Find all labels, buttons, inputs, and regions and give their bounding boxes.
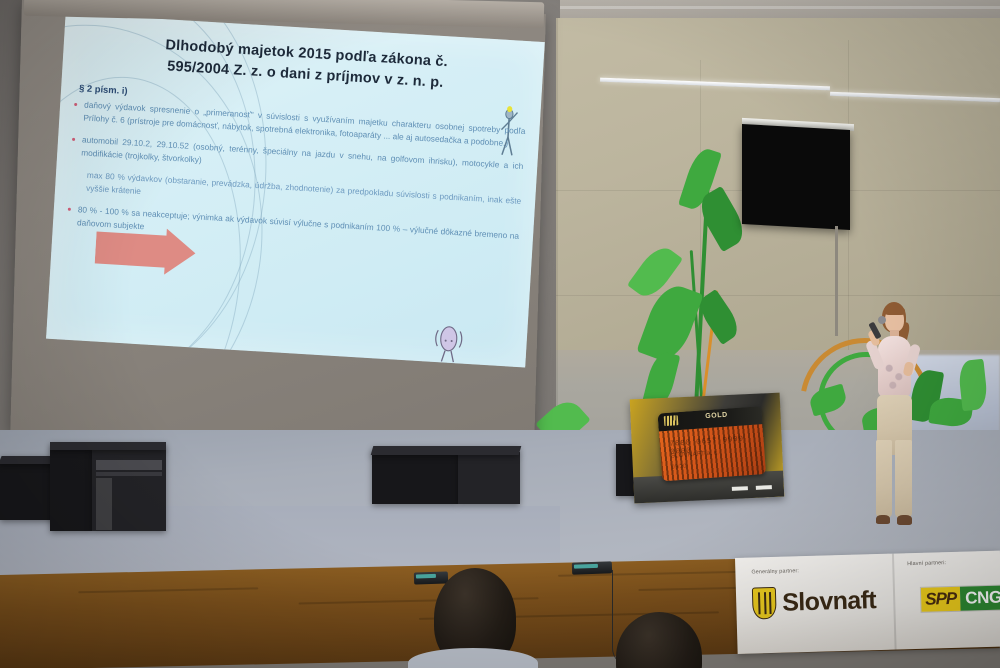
cng-wordmark: CNG	[960, 585, 1000, 610]
bullet-dot-icon	[74, 103, 77, 106]
mic-receiver-device[interactable]	[572, 561, 612, 574]
card-valid: 09/20	[671, 464, 686, 471]
road-dash	[732, 486, 748, 491]
presenter-speaker	[852, 300, 938, 532]
slovnaft-wordmark: Slovnaft	[782, 586, 877, 618]
presentation-slide[interactable]: Dlhodobý majetok 2015 podľa zákona č. 59…	[46, 13, 545, 367]
wall-seam	[556, 295, 1000, 296]
stage-loudspeaker	[458, 452, 520, 504]
tv-display-panel[interactable]	[742, 124, 850, 230]
rack-shelf	[96, 472, 162, 476]
card-body-pattern: 7888 0657 0000 0000 SLOVNAFT a. s. 09/20	[659, 424, 766, 481]
av-rack-cabinet	[50, 448, 92, 531]
presenter-leg-right	[895, 440, 912, 518]
bullet-dot-icon	[68, 207, 71, 210]
bell-character-icon	[429, 321, 467, 365]
bullet-dot-icon	[72, 138, 75, 141]
presenter-fringe	[885, 306, 905, 315]
presenter-shoe-left	[876, 515, 890, 524]
slovnaft-shield-icon	[664, 415, 679, 426]
gold-fuel-card: GOLD 7888 0657 0000 0000 SLOVNAFT a. s. …	[658, 406, 767, 481]
mic-receiver-device[interactable]	[414, 571, 448, 584]
presenter-leg-left	[876, 440, 892, 518]
slovnaft-logo: Slovnaft	[752, 584, 877, 619]
ceiling-beam	[560, 6, 1000, 9]
wall-seam	[556, 18, 558, 438]
slovnaft-shield-icon	[752, 587, 777, 620]
card-tier-label: GOLD	[705, 412, 728, 421]
presenter-blouse-pattern	[882, 358, 906, 392]
road-dash	[756, 485, 772, 490]
rack-shelf	[96, 460, 162, 470]
sponsor-banner: Generálny partner: Hlavní partneri: Slov…	[735, 551, 1000, 654]
rack-gap	[96, 478, 112, 530]
presenter-shoe-right	[897, 515, 912, 525]
tv-support-pole	[835, 226, 838, 336]
stage-loudspeaker-top	[371, 446, 522, 455]
spp-wordmark: SPP	[921, 587, 961, 612]
av-rack-cabinet-top	[50, 442, 166, 450]
fuel-card-poster[interactable]: GOLD 7888 0657 0000 0000 SLOVNAFT a. s. …	[630, 393, 785, 504]
microphone-head-icon	[878, 316, 886, 324]
projection-screen-frame: Dlhodobý majetok 2015 podľa zákona č. 59…	[10, 0, 545, 446]
spp-cng-logo: SPP CNG	[920, 584, 1000, 612]
general-partner-label: Generálny partner:	[751, 568, 799, 575]
stage-loudspeaker	[372, 452, 458, 504]
presenter-hand-right	[903, 361, 915, 377]
conference-photo-scene: Dlhodobý majetok 2015 podľa zákona č. 59…	[0, 0, 1000, 668]
main-partner-label: Hlavní partneri:	[907, 560, 946, 567]
banner-divider	[892, 554, 896, 650]
pointer-arrow-shape	[94, 224, 197, 276]
